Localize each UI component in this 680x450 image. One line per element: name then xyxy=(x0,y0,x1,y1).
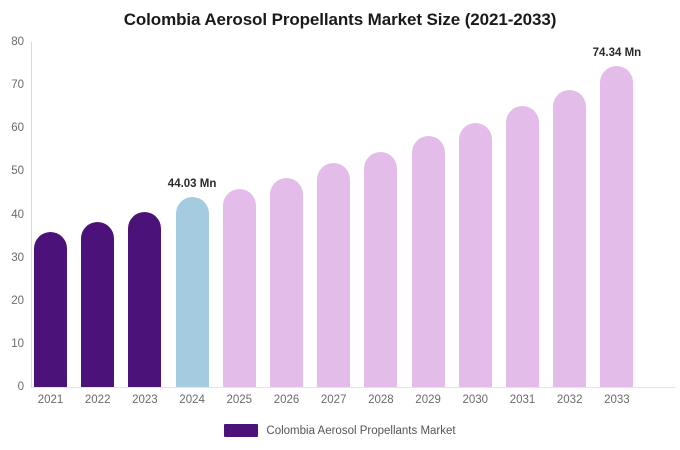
bar-2027[interactable] xyxy=(317,163,350,387)
legend-swatch-colombia-aerosol-propellants-market xyxy=(224,424,258,437)
bar-value-label-2024: 44.03 Mn xyxy=(168,178,217,190)
x-axis-tick-2027: 2027 xyxy=(317,394,350,406)
chart-legend: Colombia Aerosol Propellants Market xyxy=(0,424,680,437)
x-axis-tick-2026: 2026 xyxy=(270,394,303,406)
bar-group-2021[interactable] xyxy=(34,232,67,387)
bar-2031[interactable] xyxy=(506,106,539,387)
plot-area: 01020304050607080 44.03 Mn74.34 Mn 20212… xyxy=(31,42,680,387)
x-axis-tick-2032: 2032 xyxy=(553,394,586,406)
bar-2023[interactable] xyxy=(128,212,161,387)
bar-group-2029[interactable] xyxy=(412,136,445,387)
y-axis-tick-10: 10 xyxy=(11,338,24,350)
y-axis-tick-20: 20 xyxy=(11,295,24,307)
x-axis-tick-2021: 2021 xyxy=(34,394,67,406)
x-axis-tick-2028: 2028 xyxy=(364,394,397,406)
x-axis-tick-2022: 2022 xyxy=(81,394,114,406)
bar-2028[interactable] xyxy=(364,152,397,387)
bar-2029[interactable] xyxy=(412,136,445,387)
bar-group-2022[interactable] xyxy=(81,222,114,387)
x-axis-tick-2031: 2031 xyxy=(506,394,539,406)
bar-group-2028[interactable] xyxy=(364,152,397,387)
x-axis-tick-2024: 2024 xyxy=(176,394,209,406)
x-axis-tick-2030: 2030 xyxy=(459,394,492,406)
y-axis-tick-50: 50 xyxy=(11,165,24,177)
x-axis-line xyxy=(31,387,676,388)
bar-2021[interactable] xyxy=(34,232,67,387)
bar-2024[interactable] xyxy=(176,197,209,387)
bar-group-2024[interactable]: 44.03 Mn xyxy=(176,197,209,387)
x-axis-tick-2029: 2029 xyxy=(412,394,445,406)
bar-2025[interactable] xyxy=(223,189,256,387)
bar-chart: Colombia Aerosol Propellants Market Size… xyxy=(0,0,680,450)
bar-group-2025[interactable] xyxy=(223,189,256,387)
x-axis-tick-2023: 2023 xyxy=(128,394,161,406)
bar-2032[interactable] xyxy=(553,90,586,387)
y-axis-tick-60: 60 xyxy=(11,122,24,134)
y-axis-tick-0: 0 xyxy=(18,381,24,393)
y-axis-tick-30: 30 xyxy=(11,252,24,264)
y-axis-tick-80: 80 xyxy=(11,36,24,48)
bar-group-2031[interactable] xyxy=(506,106,539,387)
bar-value-label-2033: 74.34 Mn xyxy=(593,47,642,59)
bar-group-2027[interactable] xyxy=(317,163,350,387)
bar-2033[interactable] xyxy=(600,66,633,387)
bar-2030[interactable] xyxy=(459,123,492,387)
x-axis-tick-2025: 2025 xyxy=(223,394,256,406)
bar-group-2023[interactable] xyxy=(128,212,161,387)
y-axis-line xyxy=(31,42,32,387)
x-axis-tick-2033: 2033 xyxy=(600,394,633,406)
y-axis-tick-70: 70 xyxy=(11,79,24,91)
chart-title: Colombia Aerosol Propellants Market Size… xyxy=(0,10,680,30)
bar-2022[interactable] xyxy=(81,222,114,387)
legend-label-colombia-aerosol-propellants-market: Colombia Aerosol Propellants Market xyxy=(266,425,455,437)
bar-group-2032[interactable] xyxy=(553,90,586,387)
y-axis-tick-40: 40 xyxy=(11,209,24,221)
bar-2026[interactable] xyxy=(270,178,303,387)
bar-group-2033[interactable]: 74.34 Mn xyxy=(600,66,633,387)
bar-group-2030[interactable] xyxy=(459,123,492,387)
bar-group-2026[interactable] xyxy=(270,178,303,387)
